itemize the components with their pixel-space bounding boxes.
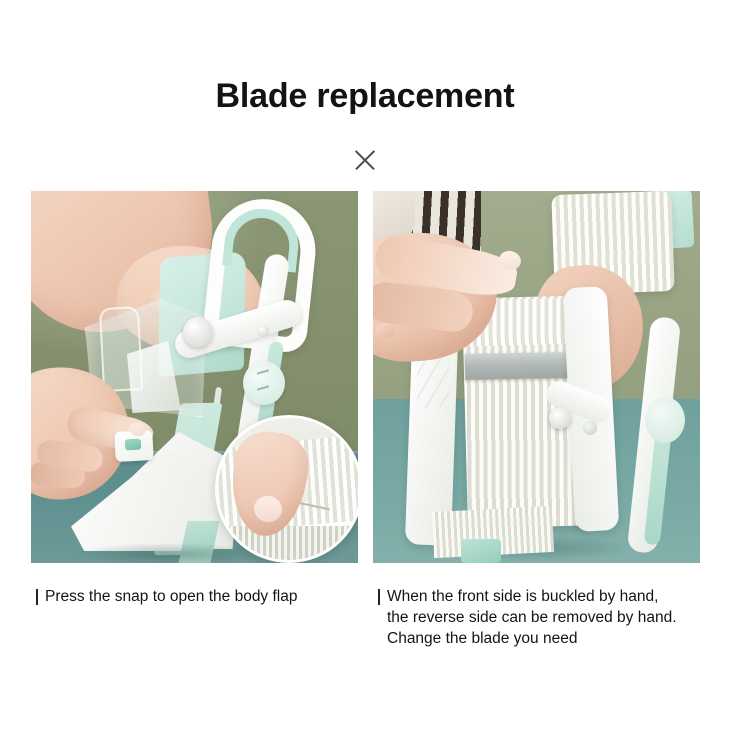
photo-1-dial-mark-2 [257, 385, 269, 390]
photo-1-adjust-dial [243, 361, 285, 405]
photo-2-pivot-knob-small [583, 421, 597, 435]
photo-2-lower-mint-clip [461, 539, 501, 563]
inset-lower-ribs [218, 526, 358, 560]
photo-1-acrylic-rib [99, 306, 143, 392]
photo-2-metal-blade [465, 352, 569, 380]
photo-1-snap-button [125, 439, 142, 451]
photo-2-thumbnail [375, 323, 395, 338]
photo-1-dial-mark-1 [257, 369, 269, 374]
photo-1-pivot-knob [183, 317, 213, 347]
photo-1-closeup-inset [215, 415, 358, 563]
photo-2-pivot-knob [549, 407, 571, 429]
photo-2-adjust-dial [645, 397, 685, 443]
caption-step-1: Press the snap to open the body flap [36, 586, 356, 607]
caption-step-2: When the front side is buckled by hand, … [378, 586, 708, 649]
photo-1-pivot-knob-small [257, 325, 269, 337]
photo-step-1 [31, 191, 358, 563]
photo-step-2 [373, 191, 700, 563]
